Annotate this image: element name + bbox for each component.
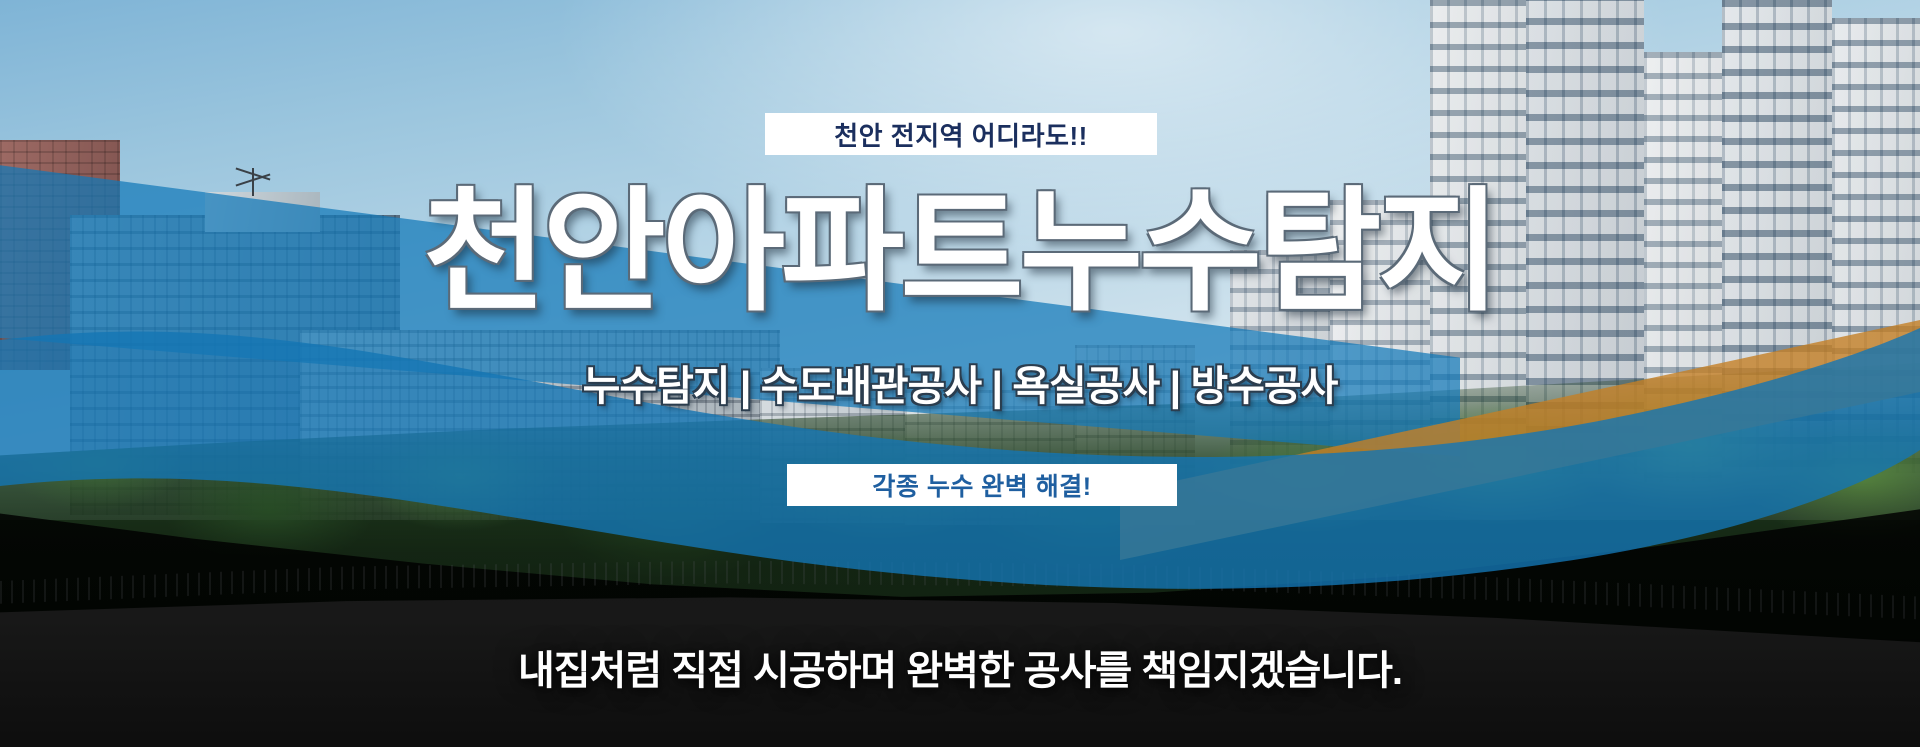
page-title: 천안아파트누수탐지: [0, 186, 1920, 320]
badge-top: 천안 전지역 어디라도!!: [765, 113, 1157, 155]
service-list-subtitle: 누수탐지 | 수도배관공사 | 욕실공사 | 방수공사: [0, 352, 1920, 412]
banner-content: 천안 전지역 어디라도!! 천안아파트누수탐지 누수탐지 | 수도배관공사 | …: [0, 0, 1920, 747]
footer-tagline: 내집처럼 직접 시공하며 완벽한 공사를 책임지겠습니다.: [0, 638, 1920, 696]
hero-banner: 천안 전지역 어디라도!! 천안아파트누수탐지 누수탐지 | 수도배관공사 | …: [0, 0, 1920, 747]
badge-bottom: 각종 누수 완벽 해결!: [787, 464, 1177, 506]
